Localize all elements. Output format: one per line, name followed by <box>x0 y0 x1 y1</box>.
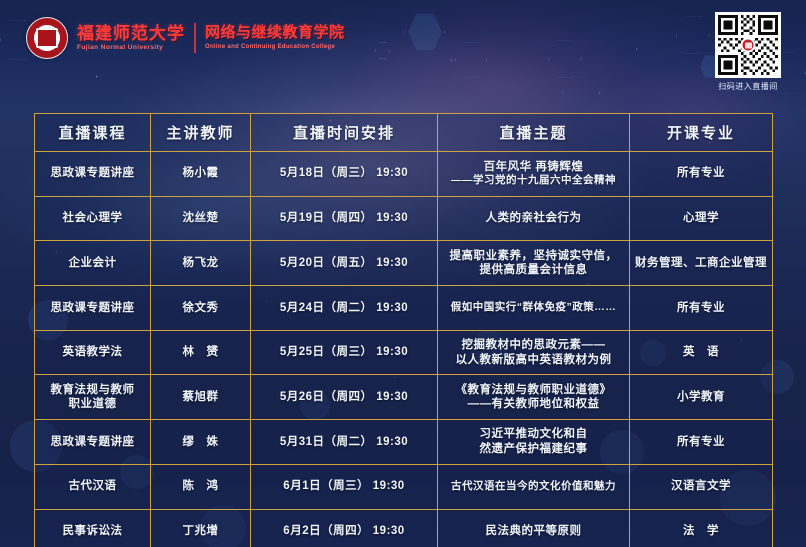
livestream-schedule-table: 直播课程 主讲教师 直播时间安排 直播主题 开课专业 思政课专题讲座杨小霞5月1… <box>34 113 773 547</box>
table-row: 思政课专题讲座徐文秀5月24日（周二） 19:30假如中国实行“群体免疫”政策…… <box>35 286 773 331</box>
university-name-cn: 福建师范大学 <box>77 25 185 43</box>
cell-topic-line: 百年风华 再铸辉煌 <box>442 160 625 175</box>
cell-course: 思政课专题讲座 <box>35 152 151 197</box>
table-row: 思政课专题讲座杨小霞5月18日（周三） 19:30百年风华 再铸辉煌——学习党的… <box>35 152 773 197</box>
brand-lockup: 福建师范大学 Fujian Normal University 网络与继续教育学… <box>26 16 345 60</box>
cell-major: 法 学 <box>630 509 773 547</box>
cell-course: 教育法规与教师职业道德 <box>35 375 151 420</box>
poster-header: 福建师范大学 Fujian Normal University 网络与继续教育学… <box>0 0 806 110</box>
cell-topic-line: 假如中国实行“群体免疫”政策…… <box>442 301 625 314</box>
qr-block[interactable]: 扫码进入直播间 <box>712 12 784 92</box>
cell-topic: 挖掘教材中的思政元素——以人教新版高中英语教材为例 <box>438 330 630 375</box>
cell-course-line: 职业道德 <box>39 397 146 412</box>
cell-topic-line: 然遗产保护福建纪事 <box>442 442 625 457</box>
cell-time: 6月2日（周四） 19:30 <box>251 509 438 547</box>
cell-topic-line: 民法典的平等原则 <box>442 524 625 539</box>
cell-teacher: 缪 姝 <box>151 420 251 465</box>
cell-teacher: 徐文秀 <box>151 286 251 331</box>
table-row: 企业会计杨飞龙5月20日（周五） 19:30提高职业素养，坚持诚实守信，提供高质… <box>35 241 773 286</box>
cell-course-line: 教育法规与教师 <box>39 383 146 398</box>
cell-time: 5月25日（周三） 19:30 <box>251 330 438 375</box>
column-header-major: 开课专业 <box>630 114 773 152</box>
cell-topic-line: 人类的亲社会行为 <box>442 211 625 226</box>
table-body: 思政课专题讲座杨小霞5月18日（周三） 19:30百年风华 再铸辉煌——学习党的… <box>35 152 773 547</box>
college-name-cn: 网络与继续教育学院 <box>205 26 345 42</box>
qr-center-logo-icon <box>741 38 756 53</box>
qr-caption: 扫码进入直播间 <box>712 81 784 92</box>
cell-topic: 百年风华 再铸辉煌——学习党的十九届六中全会精神 <box>438 152 630 197</box>
cell-topic-line: 古代汉语在当今的文化价值和魅力 <box>442 480 625 493</box>
cell-topic-line: 挖掘教材中的思政元素—— <box>442 338 625 353</box>
cell-course: 英语教学法 <box>35 330 151 375</box>
cell-major: 心理学 <box>630 196 773 241</box>
cell-time: 6月1日（周三） 19:30 <box>251 464 438 509</box>
cell-topic: 民法典的平等原则 <box>438 509 630 547</box>
cell-major: 所有专业 <box>630 286 773 331</box>
cell-topic-line: 提供高质量会计信息 <box>442 263 625 278</box>
table-row: 英语教学法林 赟5月25日（周三） 19:30挖掘教材中的思政元素——以人教新版… <box>35 330 773 375</box>
cell-course: 思政课专题讲座 <box>35 420 151 465</box>
cell-topic: 人类的亲社会行为 <box>438 196 630 241</box>
cell-time: 5月19日（周四） 19:30 <box>251 196 438 241</box>
cell-topic-line: 习近平推动文化和自 <box>442 427 625 442</box>
cell-topic: 《教育法规与教师职业道德》——有关教师地位和权益 <box>438 375 630 420</box>
cell-time: 5月24日（周二） 19:30 <box>251 286 438 331</box>
cell-course: 思政课专题讲座 <box>35 286 151 331</box>
cell-major: 所有专业 <box>630 420 773 465</box>
cell-topic: 提高职业素养，坚持诚实守信，提供高质量会计信息 <box>438 241 630 286</box>
cell-course: 古代汉语 <box>35 464 151 509</box>
cell-topic: 古代汉语在当今的文化价值和魅力 <box>438 464 630 509</box>
table-row: 民事诉讼法丁兆增6月2日（周四） 19:30民法典的平等原则法 学 <box>35 509 773 547</box>
cell-topic-line: 以人教新版高中英语教材为例 <box>442 353 625 368</box>
brand-divider <box>194 23 196 53</box>
cell-major: 财务管理、工商企业管理 <box>630 241 773 286</box>
cell-course: 企业会计 <box>35 241 151 286</box>
cell-course: 社会心理学 <box>35 196 151 241</box>
cell-time: 5月18日（周三） 19:30 <box>251 152 438 197</box>
cell-teacher: 杨小霞 <box>151 152 251 197</box>
cell-teacher: 沈丝楚 <box>151 196 251 241</box>
cell-topic-line: ——有关教师地位和权益 <box>442 397 625 412</box>
college-name-en: Online and Continuing Education College <box>205 44 345 50</box>
table-row: 社会心理学沈丝楚5月19日（周四） 19:30人类的亲社会行为心理学 <box>35 196 773 241</box>
cell-teacher: 林 赟 <box>151 330 251 375</box>
cell-topic-line: 《教育法规与教师职业道德》 <box>442 383 625 398</box>
cell-time: 5月26日（周四） 19:30 <box>251 375 438 420</box>
column-header-topic: 直播主题 <box>438 114 630 152</box>
university-name-en: Fujian Normal University <box>77 44 185 51</box>
cell-topic-line: ——学习党的十九届六中全会精神 <box>442 174 625 187</box>
cell-topic-line: 提高职业素养，坚持诚实守信， <box>442 249 625 264</box>
livestream-schedule-poster: 福建师范大学 Fujian Normal University 网络与继续教育学… <box>0 0 806 547</box>
cell-teacher: 蔡旭群 <box>151 375 251 420</box>
column-header-teacher: 主讲教师 <box>151 114 251 152</box>
column-header-course: 直播课程 <box>35 114 151 152</box>
cell-time: 5月31日（周二） 19:30 <box>251 420 438 465</box>
table-header-row: 直播课程 主讲教师 直播时间安排 直播主题 开课专业 <box>35 114 773 152</box>
cell-topic: 假如中国实行“群体免疫”政策…… <box>438 286 630 331</box>
column-header-time: 直播时间安排 <box>251 114 438 152</box>
table-row: 古代汉语陈 鸿6月1日（周三） 19:30古代汉语在当今的文化价值和魅力汉语言文… <box>35 464 773 509</box>
cell-topic: 习近平推动文化和自然遗产保护福建纪事 <box>438 420 630 465</box>
qr-code-icon[interactable] <box>715 12 781 78</box>
university-seal-icon <box>26 17 68 59</box>
cell-major: 所有专业 <box>630 152 773 197</box>
cell-major: 英 语 <box>630 330 773 375</box>
cell-major: 小学教育 <box>630 375 773 420</box>
cell-course: 民事诉讼法 <box>35 509 151 547</box>
cell-teacher: 杨飞龙 <box>151 241 251 286</box>
cell-major: 汉语言文学 <box>630 464 773 509</box>
table-row: 思政课专题讲座缪 姝5月31日（周二） 19:30习近平推动文化和自然遗产保护福… <box>35 420 773 465</box>
cell-time: 5月20日（周五） 19:30 <box>251 241 438 286</box>
table-row: 教育法规与教师职业道德蔡旭群5月26日（周四） 19:30《教育法规与教师职业道… <box>35 375 773 420</box>
cell-teacher: 丁兆增 <box>151 509 251 547</box>
cell-teacher: 陈 鸿 <box>151 464 251 509</box>
